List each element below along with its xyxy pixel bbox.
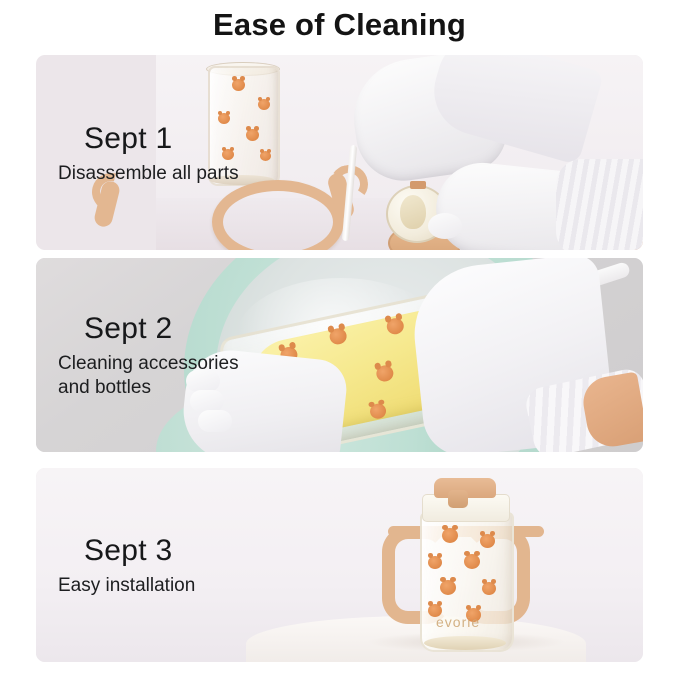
step-panel-2: evorie Sept 2 Cleaning accessories and b… <box>36 258 643 452</box>
bear-face-icon <box>232 79 245 91</box>
bear-face-icon <box>246 129 259 141</box>
bear-face-icon <box>218 113 230 124</box>
bear-face-icon <box>482 582 496 595</box>
brand-text: evorie <box>436 614 480 630</box>
lid-hinge <box>410 181 426 189</box>
step-1-photo <box>36 55 643 250</box>
bear-print-bottle <box>420 512 514 652</box>
infographic-page: Ease of Cleaning <box>0 0 679 679</box>
bear-face-icon <box>428 556 442 569</box>
glove-finger <box>198 410 232 432</box>
bear-face-icon <box>480 534 495 548</box>
step-panel-3: evorie Sept 3 Easy installation <box>36 468 643 662</box>
glove-finger <box>186 370 220 392</box>
bear-face-icon <box>258 99 270 110</box>
step-2-photo: evorie <box>36 258 643 452</box>
bear-face-icon <box>222 149 234 160</box>
page-title: Ease of Cleaning <box>0 6 679 44</box>
bear-face-icon <box>464 554 480 569</box>
silicone-seal <box>400 195 426 229</box>
glove-thumb <box>428 213 462 239</box>
bear-face-icon <box>260 151 271 161</box>
handle-hook-left <box>85 166 137 218</box>
glove-fingers <box>186 366 282 436</box>
cap-latch <box>448 490 468 508</box>
bear-face-icon <box>442 528 458 543</box>
glove-sleeve-lower <box>556 159 643 250</box>
bottle-base <box>424 636 506 650</box>
step-3-photo: evorie <box>36 468 643 662</box>
bear-face-icon <box>440 580 456 595</box>
glove-finger <box>190 390 224 412</box>
step-panel-1: Sept 1 Disassemble all parts <box>36 55 643 250</box>
